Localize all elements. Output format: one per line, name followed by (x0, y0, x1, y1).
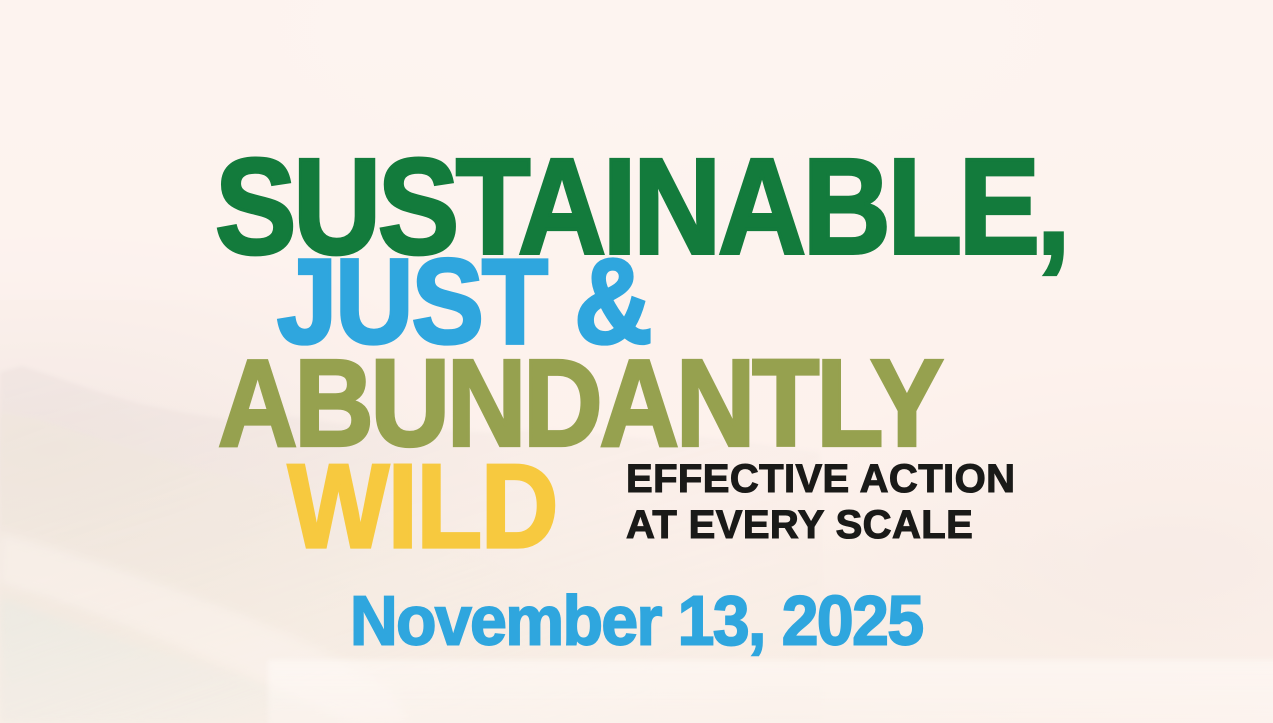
event-date: November 13, 2025 (350, 585, 923, 655)
headline-line-wild: WILD (288, 447, 557, 566)
tagline: EFFECTIVE ACTION AT EVERY SCALE (626, 456, 1015, 549)
tagline-line-1: EFFECTIVE ACTION (626, 456, 1015, 502)
event-banner: SUSTAINABLE, JUST & ABUNDANTLY WILD EFFE… (0, 0, 1273, 723)
tagline-line-2: AT EVERY SCALE (626, 502, 1015, 548)
